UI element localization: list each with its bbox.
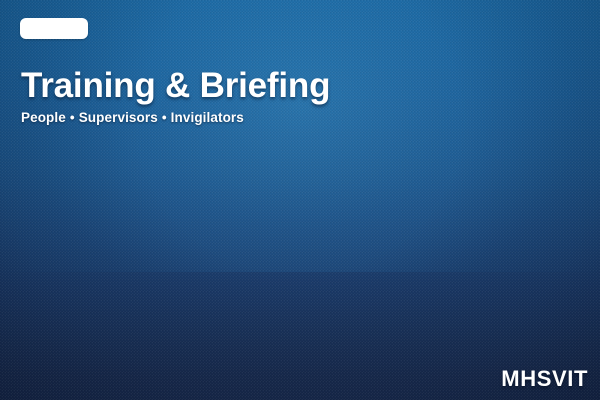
slide-subtitle: People•Supervisors•Invigilators [21, 109, 541, 126]
bullet-separator-icon: • [66, 110, 79, 125]
subtitle-item-supervisors: Supervisors [79, 110, 158, 125]
slide-title: Training & Briefing [21, 66, 541, 106]
subtitle-item-people: People [21, 110, 66, 125]
slide-text-block: Training & Briefing People•Supervisors•I… [21, 66, 541, 126]
top-left-pill-badge[interactable] [20, 18, 88, 39]
background-vignette [0, 0, 600, 400]
presentation-slide: Training & Briefing People•Supervisors•I… [0, 0, 600, 400]
bullet-separator-icon: • [158, 110, 171, 125]
background-highlight-glow [0, 0, 600, 272]
brand-wordmark: MHSVIT [501, 366, 588, 392]
subtitle-item-invigilators: Invigilators [171, 110, 244, 125]
background-noise-texture [0, 0, 600, 400]
